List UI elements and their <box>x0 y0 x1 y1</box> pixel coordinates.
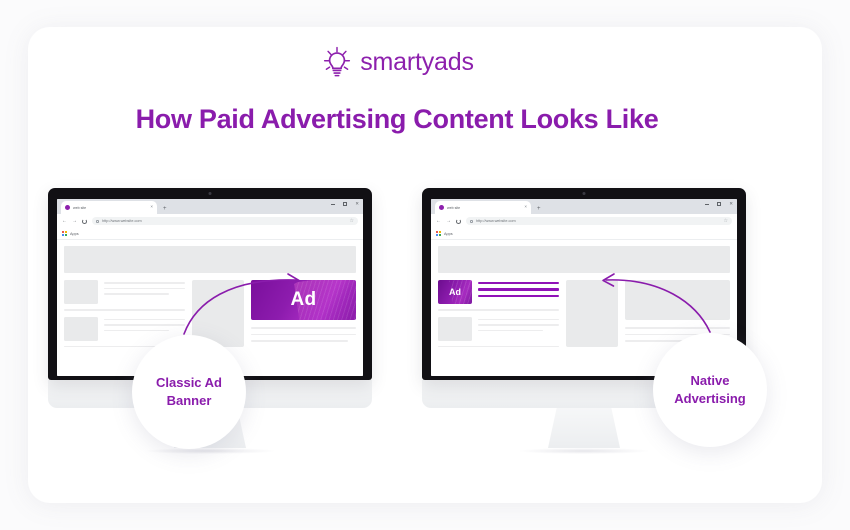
webcam-icon <box>209 192 212 195</box>
sidebar-block-placeholder <box>625 280 730 320</box>
apps-grid-icon[interactable] <box>62 231 67 236</box>
text-line <box>478 319 559 321</box>
window-maximize-button[interactable] <box>343 202 347 206</box>
text-line <box>251 334 356 336</box>
feed-column: Ad <box>438 280 559 353</box>
browser-tab-bar: web site × + ✕ <box>57 199 363 214</box>
browser-tab-bar: web site × + ✕ <box>431 199 737 214</box>
bookmark-star-icon[interactable]: ☆ <box>350 219 354 224</box>
forward-icon[interactable]: → <box>446 219 451 224</box>
text-line <box>251 327 356 329</box>
native-ad-text-line <box>478 295 559 297</box>
window-maximize-button[interactable] <box>717 202 721 206</box>
text-line <box>478 330 543 332</box>
list-item <box>64 280 185 304</box>
secondary-column <box>566 280 618 353</box>
divider <box>438 309 559 311</box>
new-tab-button[interactable]: + <box>537 206 541 212</box>
window-close-button[interactable]: ✕ <box>729 202 733 207</box>
tab-title: web site <box>447 206 521 210</box>
text-line <box>625 327 730 329</box>
window-controls: ✕ <box>705 202 733 207</box>
lightbulb-icon <box>320 45 354 79</box>
monitor-base-shadow <box>145 448 275 454</box>
back-icon[interactable]: ← <box>62 219 67 224</box>
poster-canvas: smartyads How Paid Advertising Content L… <box>0 0 850 530</box>
browser-tab[interactable]: web site × <box>435 201 531 214</box>
favicon-icon <box>439 205 444 210</box>
ad-label: Ad <box>449 287 461 297</box>
page-header-placeholder <box>438 246 730 273</box>
text-line <box>104 319 185 321</box>
site-info-icon <box>96 220 99 223</box>
tab-close-icon[interactable]: × <box>524 205 527 210</box>
address-bar[interactable]: http://www.website.com ☆ <box>92 217 358 226</box>
forward-icon[interactable]: → <box>72 219 77 224</box>
bookmarks-bar: Apps <box>431 228 737 240</box>
tab-close-icon[interactable]: × <box>150 205 153 210</box>
callout-line-2: Advertising <box>674 390 746 408</box>
brand-name: smartyads <box>360 50 474 75</box>
native-ad-text-line <box>478 282 559 284</box>
ad-label: Ad <box>291 289 317 311</box>
text-line <box>104 330 169 332</box>
thumbnail-placeholder <box>438 317 472 341</box>
reload-icon[interactable] <box>456 219 461 224</box>
bookmark-apps-label[interactable]: Apps <box>70 232 79 236</box>
text-line <box>104 288 185 290</box>
webcam-icon <box>583 192 586 195</box>
text-line <box>104 324 185 326</box>
sidebar-column: Ad <box>251 280 356 353</box>
address-bar-url: http://www.website.com <box>476 219 516 223</box>
content-block-placeholder <box>566 280 618 347</box>
page-header-placeholder <box>64 246 356 273</box>
page-title: How Paid Advertising Content Looks Like <box>0 104 794 135</box>
reload-icon[interactable] <box>82 219 87 224</box>
native-ad-thumbnail: Ad <box>438 280 472 304</box>
callout-line-1: Classic Ad <box>156 374 222 392</box>
text-line <box>251 340 348 342</box>
bookmark-apps-label[interactable]: Apps <box>444 232 453 236</box>
back-icon[interactable]: ← <box>436 219 441 224</box>
address-bar[interactable]: http://www.website.com ☆ <box>466 217 732 226</box>
bookmarks-bar: Apps <box>57 228 363 240</box>
window-minimize-button[interactable] <box>331 204 335 205</box>
address-bar-url: http://www.website.com <box>102 219 142 223</box>
callout-classic-ad-banner: Classic Ad Banner <box>132 335 246 449</box>
brand-logo: smartyads <box>0 45 794 79</box>
browser-tab[interactable]: web site × <box>61 201 157 214</box>
text-line <box>104 293 169 295</box>
list-item <box>64 317 185 341</box>
text-line <box>104 282 185 284</box>
monitor-stand <box>548 408 620 448</box>
native-ad-unit[interactable]: Ad <box>438 280 559 304</box>
callout-line-1: Native <box>674 372 746 390</box>
text-line <box>478 324 559 326</box>
favicon-icon <box>65 205 70 210</box>
tab-title: web site <box>73 206 147 210</box>
bookmark-star-icon[interactable]: ☆ <box>724 219 728 224</box>
thumbnail-placeholder <box>64 317 98 341</box>
browser-nav-bar: ← → http://www.website.com ☆ <box>431 214 737 228</box>
window-minimize-button[interactable] <box>705 204 709 205</box>
new-tab-button[interactable]: + <box>163 206 167 212</box>
callout-native-advertising: Native Advertising <box>653 333 767 447</box>
browser-nav-bar: ← → http://www.website.com ☆ <box>57 214 363 228</box>
divider <box>64 309 185 311</box>
native-ad-text-line <box>478 288 559 290</box>
window-controls: ✕ <box>331 202 359 207</box>
monitor-base-shadow <box>519 448 649 454</box>
divider <box>438 346 559 348</box>
site-info-icon <box>470 220 473 223</box>
apps-grid-icon[interactable] <box>436 231 441 236</box>
list-item <box>438 317 559 341</box>
callout-line-2: Banner <box>156 392 222 410</box>
thumbnail-placeholder <box>64 280 98 304</box>
window-close-button[interactable]: ✕ <box>355 202 359 207</box>
display-ad-banner[interactable]: Ad <box>251 280 356 320</box>
